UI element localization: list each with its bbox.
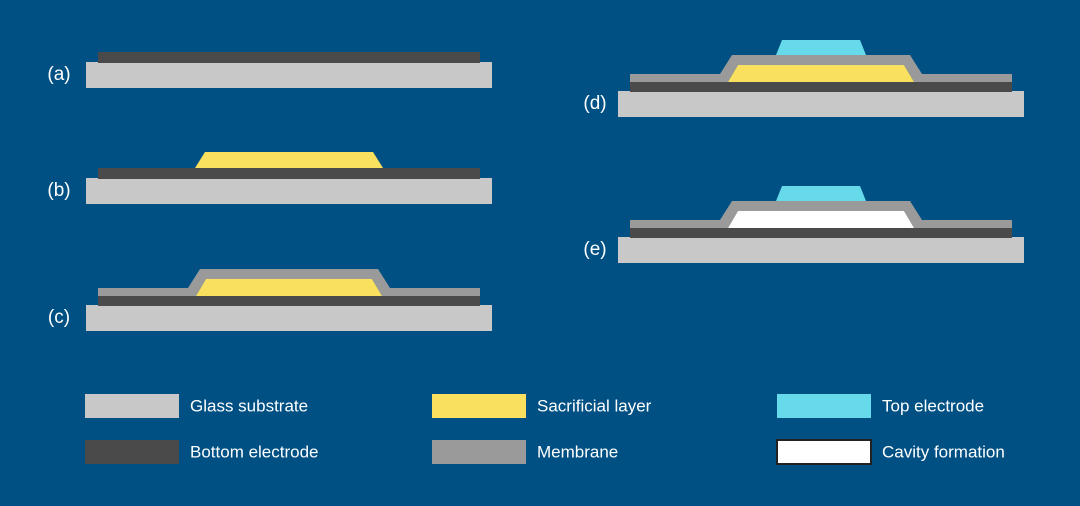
panel-a-bottom-electrode: [98, 52, 480, 63]
legend-swatch-bottom-electrode: [85, 440, 179, 464]
legend-label-glass-substrate: Glass substrate: [190, 396, 308, 415]
legend-label-bottom-electrode: Bottom electrode: [190, 442, 319, 461]
panel-a-label: (a): [47, 64, 70, 85]
legend-label-sacrificial-layer: Sacrificial layer: [537, 396, 652, 415]
panel-e-top-electrode: [776, 186, 866, 201]
process-flow-diagram: (a) (b) (c) (d): [0, 0, 1080, 506]
panel-c-bottom-electrode: [98, 295, 480, 306]
panel-c-glass-substrate: [86, 305, 492, 331]
legend-swatch-cavity-formation: [777, 440, 871, 464]
legend-swatch-top-electrode: [777, 394, 871, 418]
panel-d-bottom-electrode: [630, 81, 1012, 92]
legend-swatch-sacrificial-layer: [432, 394, 526, 418]
panel-a-glass-substrate: [86, 62, 492, 88]
legend-item-bottom-electrode: Bottom electrode: [85, 440, 319, 464]
figure-canvas: (a) (b) (c) (d): [0, 0, 1080, 506]
panel-e-bottom-electrode: [630, 227, 1012, 238]
panel-e-glass-substrate: [618, 237, 1024, 263]
legend-label-membrane: Membrane: [537, 442, 618, 461]
panel-b-glass-substrate: [86, 178, 492, 204]
panel-d-glass-substrate: [618, 91, 1024, 117]
panel-d-top-electrode: [776, 40, 866, 55]
legend-item-glass-substrate: Glass substrate: [85, 394, 308, 418]
legend-label-top-electrode: Top electrode: [882, 396, 984, 415]
panel-e-label: (e): [583, 239, 606, 260]
panel-b-bottom-electrode: [98, 168, 480, 179]
panel-e-cavity: [728, 211, 914, 228]
panel-d-label: (d): [583, 93, 606, 114]
panel-a: (a): [47, 52, 492, 88]
panel-d-sacrificial-layer: [728, 65, 914, 82]
legend-item-membrane: Membrane: [432, 440, 618, 464]
panel-c-sacrificial-layer: [196, 279, 382, 296]
legend-item-sacrificial-layer: Sacrificial layer: [432, 394, 652, 418]
legend-swatch-membrane: [432, 440, 526, 464]
panel-c-label: (c): [48, 307, 70, 328]
panel-b-sacrificial-layer: [195, 152, 383, 168]
legend-item-cavity-formation: Cavity formation: [777, 440, 1005, 464]
panel-b-label: (b): [47, 180, 70, 201]
legend-swatch-glass-substrate: [85, 394, 179, 418]
legend-label-cavity-formation: Cavity formation: [882, 442, 1005, 461]
